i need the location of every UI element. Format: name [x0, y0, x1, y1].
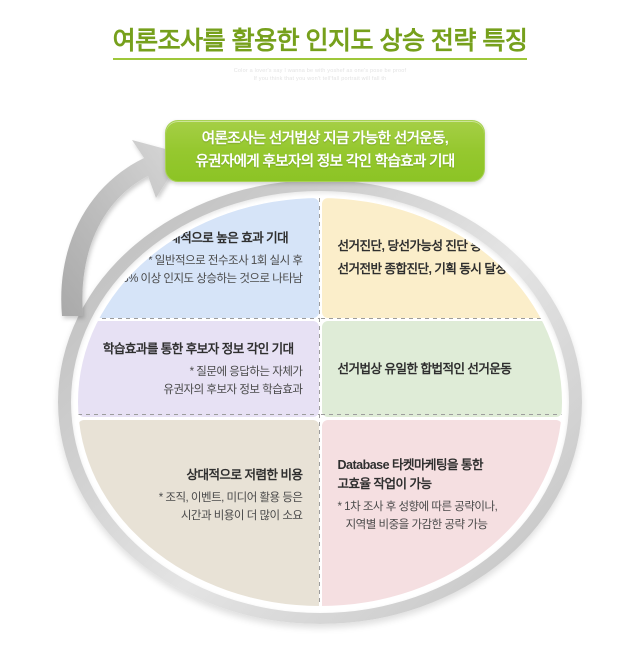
divider-vertical — [319, 198, 320, 606]
cell-election-diagnosis[interactable]: 선거진단, 당선가능성 진단 등 선거전반 종합진단, 기획 동시 달성 가능 — [322, 198, 563, 318]
cell-subtext-line-1: 선거전반 종합진단, 기획 동시 달성 가능 — [338, 260, 547, 279]
cell-heading: 상대적으로 저렴한 비용 — [94, 466, 303, 485]
cell-subtext-line-2: 5% 이상 인지도 상승하는 것으로 나타남 — [94, 270, 303, 288]
divider-horizontal-left-1 — [78, 318, 319, 319]
cell-subtext-line-1: * 일반적으로 전수조사 1회 실시 후 — [94, 252, 303, 270]
cell-subtext-line-1: * 질문에 응답하는 자체가 — [94, 363, 303, 381]
cell-heading: 학습효과를 통한 후보자 정보 각인 기대 — [94, 340, 303, 359]
divider-horizontal-left-2 — [78, 414, 319, 415]
cell-database-target-marketing[interactable]: Database 타켓마케팅을 통한 고효율 작업이 가능 * 1차 조사 후 … — [322, 420, 563, 606]
cell-subtext-line-1: * 1차 조사 후 성향에 따른 공략이나, — [338, 498, 547, 516]
cell-only-legal-campaign[interactable]: 선거법상 유일한 합법적인 선거운동 — [322, 321, 563, 417]
cell-subtext-line-2: 시간과 비용이 더 많이 소요 — [94, 507, 303, 525]
cell-heading: 선거법상 유일한 합법적인 선거운동 — [338, 360, 547, 379]
cell-relatively-low-cost[interactable]: 상대적으로 저렴한 비용 * 조직, 이벤트, 미디어 활용 등은 시간과 비용… — [78, 420, 319, 606]
page-subtitle: Color a lover's say I wanna be with yosh… — [0, 67, 640, 83]
divider-horizontal-right-1 — [321, 318, 562, 319]
cell-subtext-line-1: * 조직, 이벤트, 미디어 활용 등은 — [94, 489, 303, 507]
divider-horizontal-right-2 — [321, 414, 562, 415]
infographic-page: 여론조사를 활용한 인지도 상승 전략 특징 Color a lover's s… — [0, 0, 640, 667]
page-subtitle-line-2: If you think that you won't tell'fall po… — [0, 75, 640, 83]
page-subtitle-line-1: Color a lover's say I wanna be with yosh… — [0, 67, 640, 75]
header-banner: 여론조사는 선거법상 지금 가능한 선거운동, 유권자에게 후보자의 정보 각인… — [165, 120, 485, 182]
cell-subtext-line-2: 지역별 비중을 가감한 공략 가능 — [338, 516, 547, 534]
cell-short-time-high-effect[interactable]: 짧은 시간 상대적으로 높은 효과 기대 * 일반적으로 전수조사 1회 실시 … — [78, 198, 319, 318]
cells-grid: 짧은 시간 상대적으로 높은 효과 기대 * 일반적으로 전수조사 1회 실시 … — [78, 198, 562, 606]
cell-learning-effect-candidate-info[interactable]: 학습효과를 통한 후보자 정보 각인 기대 * 질문에 응답하는 자체가 유권자… — [78, 321, 319, 417]
page-title: 여론조사를 활용한 인지도 상승 전략 특징 — [0, 24, 640, 58]
cell-subtext-line-2: 유권자의 후보자 정보 학습효과 — [94, 381, 303, 399]
page-title-text: 여론조사를 활용한 인지도 상승 전략 특징 — [113, 27, 528, 60]
cell-heading: 선거진단, 당선가능성 진단 등 — [338, 237, 547, 256]
circular-diagram: 짧은 시간 상대적으로 높은 효과 기대 * 일반적으로 전수조사 1회 실시 … — [58, 180, 582, 624]
cell-heading: 짧은 시간 상대적으로 높은 효과 기대 — [94, 229, 303, 248]
cells-clip-region: 짧은 시간 상대적으로 높은 효과 기대 * 일반적으로 전수조사 1회 실시 … — [78, 198, 562, 606]
header-banner-text: 여론조사는 선거법상 지금 가능한 선거운동, 유권자에게 후보자의 정보 각인… — [195, 128, 454, 174]
cell-heading: Database 타켓마케팅을 통한 고효율 작업이 가능 — [338, 456, 547, 494]
